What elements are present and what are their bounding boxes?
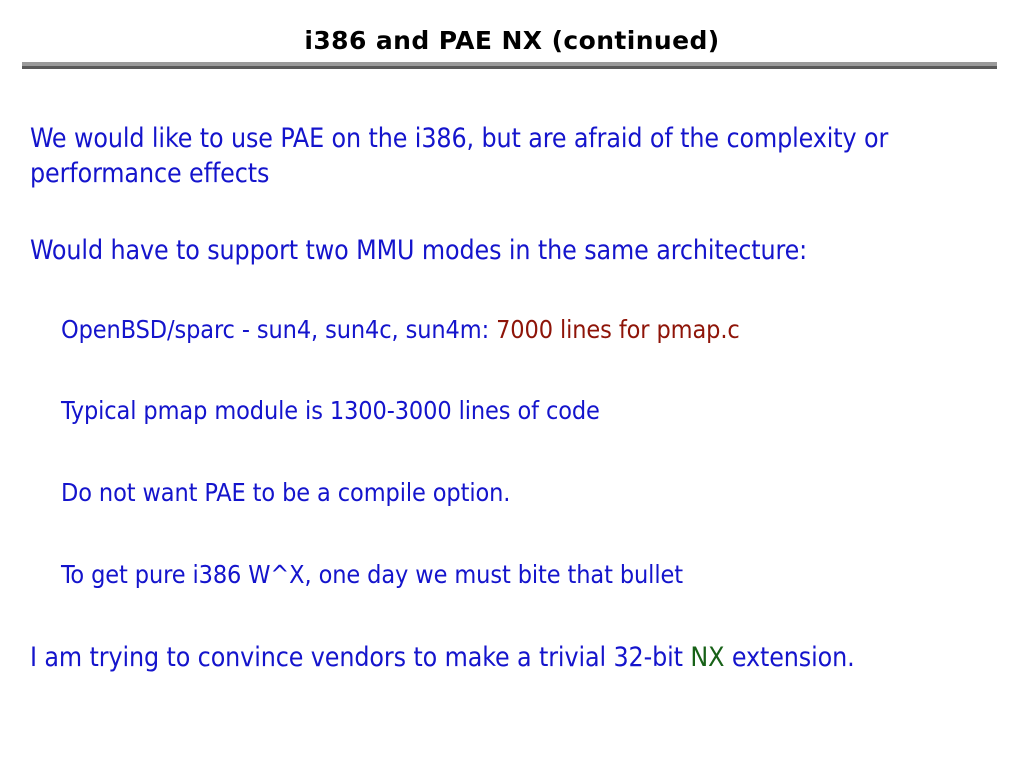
paragraph-vendors-part-b: extension. xyxy=(724,642,854,673)
slide: i386 and PAE NX (continued) We would lik… xyxy=(0,0,1024,768)
bullet-openbsd-sparc-lines: 7000 lines for pmap.c xyxy=(489,315,740,344)
bullet-typical-pmap: Typical pmap module is 1300-3000 lines o… xyxy=(61,393,991,428)
title-divider xyxy=(22,62,997,69)
bullet-openbsd-sparc-label: OpenBSD/sparc - sun4, sun4c, sun4m: xyxy=(61,315,489,344)
page-title: i386 and PAE NX (continued) xyxy=(0,26,1024,55)
paragraph-vendors: I am trying to convince vendors to make … xyxy=(30,640,990,675)
paragraph-vendors-nx: NX xyxy=(690,642,724,673)
bullet-bite-that-bullet: To get pure i386 W^X, one day we must bi… xyxy=(61,557,991,592)
paragraph-vendors-part-a: I am trying to convince vendors to make … xyxy=(30,642,690,673)
paragraph-intro: We would like to use PAE on the i386, bu… xyxy=(30,121,990,191)
paragraph-mmu-modes: Would have to support two MMU modes in t… xyxy=(30,233,990,268)
bullet-openbsd-sparc: OpenBSD/sparc - sun4, sun4c, sun4m: 7000… xyxy=(61,312,991,347)
bullet-compile-option: Do not want PAE to be a compile option. xyxy=(61,475,991,510)
